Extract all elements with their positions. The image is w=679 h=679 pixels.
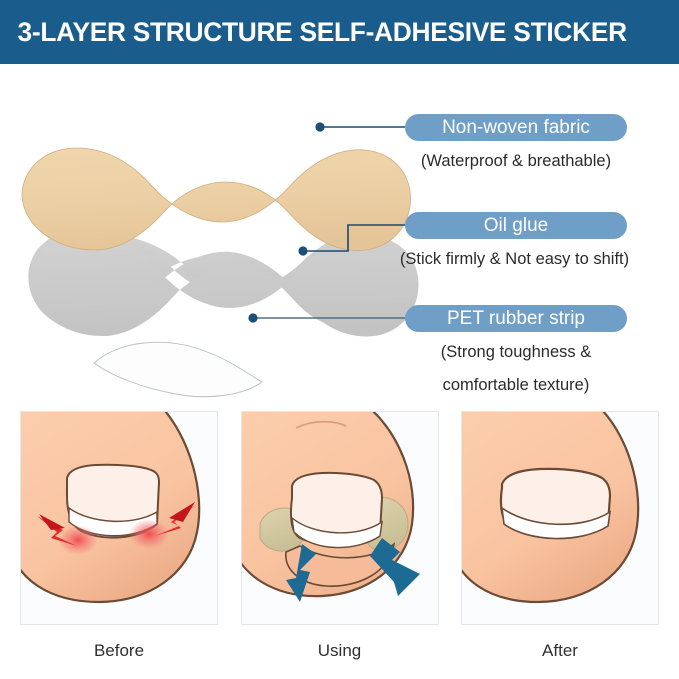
callout-pill-non-woven-fabric: Non-woven fabric xyxy=(405,114,627,141)
stage-before: Before xyxy=(20,411,218,679)
stage-panel-after xyxy=(461,411,659,625)
connector-dot-pet-rubber-strip xyxy=(248,313,257,322)
stage-using: Using xyxy=(241,411,439,679)
callout-sub-pet-rubber-strip-line1: (Strong toughness & xyxy=(405,339,627,365)
connector-line-non-woven-fabric xyxy=(315,122,405,131)
inflammation-right xyxy=(129,519,169,549)
callout-pill-oil-glue: Oil glue xyxy=(405,212,627,239)
inflammation-left xyxy=(58,525,98,555)
callout-sub-oil-glue: (Stick firmly & Not easy to shift) xyxy=(379,246,650,272)
callout-sub-non-woven-fabric: (Waterproof & breathable) xyxy=(405,148,627,174)
stage-panel-before xyxy=(20,411,218,625)
connector-dot-non-woven-fabric xyxy=(315,122,324,131)
stages-row: Before xyxy=(0,411,679,679)
layer-shape-non-woven-fabric xyxy=(22,148,411,251)
stage-caption-after: After xyxy=(461,641,659,661)
callout-non-woven-fabric: Non-woven fabric (Waterproof & breathabl… xyxy=(405,114,627,174)
stage-caption-before: Before xyxy=(20,641,218,661)
stage-caption-using: Using xyxy=(241,641,439,661)
layer-shape-pet-rubber-strip xyxy=(94,342,262,396)
header-banner: 3-LAYER STRUCTURE SELF-ADHESIVE STICKER xyxy=(0,0,679,64)
page-title: 3-LAYER STRUCTURE SELF-ADHESIVE STICKER xyxy=(0,17,627,48)
before-illustration xyxy=(21,412,217,624)
stage-panel-using xyxy=(241,411,439,625)
connector-dot-oil-glue xyxy=(298,246,307,255)
callout-pill-pet-rubber-strip: PET rubber strip xyxy=(405,305,627,332)
layer-structure-diagram: Non-woven fabric (Waterproof & breathabl… xyxy=(0,64,679,404)
using-illustration xyxy=(242,412,438,624)
after-illustration xyxy=(462,412,658,624)
callout-oil-glue: Oil glue (Stick firmly & Not easy to shi… xyxy=(405,212,627,272)
callout-pet-rubber-strip: PET rubber strip (Strong toughness & com… xyxy=(405,305,627,398)
stage-after: After xyxy=(461,411,659,679)
callout-sub-pet-rubber-strip-line2: comfortable texture) xyxy=(405,372,627,398)
